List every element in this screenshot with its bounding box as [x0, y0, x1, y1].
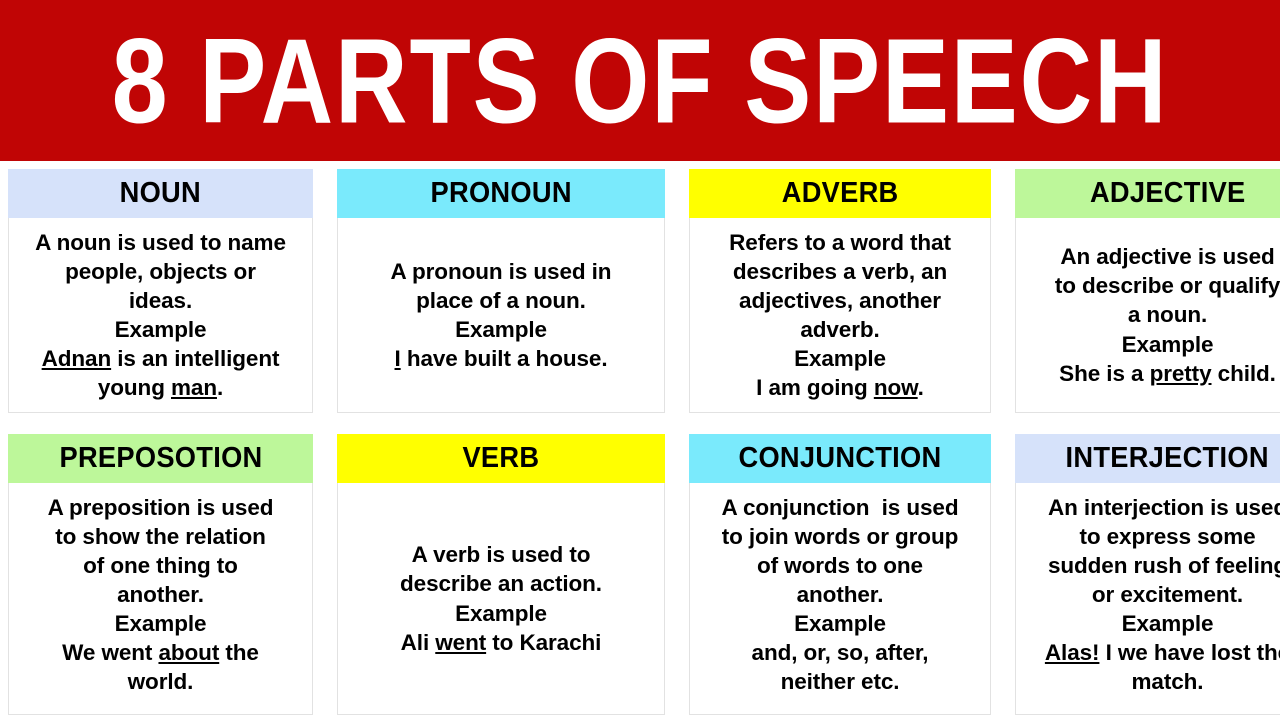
card-text-line: A preposition is used	[48, 493, 274, 522]
card-title: PRONOUN	[430, 177, 571, 210]
card-text-line: We went about the	[48, 638, 274, 667]
text-fragment: another.	[797, 582, 884, 607]
text-fragment: match.	[1132, 669, 1204, 694]
card-definition-text: Refers to a word thatdescribes a verb, a…	[729, 228, 951, 402]
card-text-line: Alas! I we have lost the	[1045, 638, 1280, 667]
card-text-line: adverb.	[729, 315, 951, 344]
card-text-line: another.	[722, 580, 959, 609]
text-fragment: is an intelligent	[111, 346, 279, 371]
card-header: PRONOUN	[337, 169, 665, 218]
underlined-example-word: Adnan	[42, 346, 112, 371]
page-banner: 8 PARTS OF SPEECH	[0, 0, 1280, 161]
page-title: 8 PARTS OF SPEECH	[112, 20, 1169, 141]
card-body: Refers to a word thatdescribes a verb, a…	[689, 218, 991, 413]
card-definition-text: A noun is used to namepeople, objects or…	[35, 228, 286, 402]
card-body: A conjunction is usedto join words or gr…	[689, 483, 991, 715]
text-fragment: sudden rush of feeling	[1048, 553, 1280, 578]
text-fragment: Example	[115, 317, 207, 342]
text-fragment: neither etc.	[781, 669, 900, 694]
text-fragment: of one thing to	[83, 553, 238, 578]
card-text-line: A verb is used to	[400, 540, 602, 569]
part-of-speech-card: ADVERBRefers to a word thatdescribes a v…	[689, 169, 991, 413]
text-fragment: child.	[1212, 361, 1276, 386]
card-text-line: Example	[35, 315, 286, 344]
card-header: CONJUNCTION	[689, 434, 991, 483]
text-fragment: An interjection is used	[1048, 495, 1280, 520]
text-fragment: .	[918, 375, 924, 400]
card-body: A verb is used todescribe an action.Exam…	[337, 483, 665, 715]
card-body: A pronoun is used inplace of a noun.Exam…	[337, 218, 665, 413]
card-text-line: and, or, so, after,	[722, 638, 959, 667]
card-body: A preposition is usedto show the relatio…	[8, 483, 313, 715]
text-fragment: adjectives, another	[739, 288, 941, 313]
text-fragment: to express some	[1079, 524, 1255, 549]
card-text-line: match.	[1045, 667, 1280, 696]
text-fragment: Example	[455, 317, 547, 342]
card-definition-text: A conjunction is usedto join words or gr…	[722, 493, 959, 696]
card-text-line: Example	[1055, 330, 1280, 359]
text-fragment: and, or, so, after,	[752, 640, 929, 665]
card-text-line: I am going now.	[729, 373, 951, 402]
text-fragment: She is a	[1059, 361, 1149, 386]
card-header: ADVERB	[689, 169, 991, 218]
card-text-line: Example	[400, 599, 602, 628]
card-definition-text: An adjective is usedto describe or quali…	[1055, 242, 1280, 387]
card-text-line: describes a verb, an	[729, 257, 951, 286]
text-fragment: A conjunction is used	[722, 495, 959, 520]
card-text-line: She is a pretty child.	[1055, 359, 1280, 388]
card-text-line: of words to one	[722, 551, 959, 580]
card-text-line: Example	[391, 315, 612, 344]
text-fragment: to join words or group	[722, 524, 959, 549]
card-text-line: I have built a house.	[391, 344, 612, 373]
underlined-example-word: pretty	[1150, 361, 1212, 386]
card-title: INTERJECTION	[1066, 442, 1269, 475]
card-text-line: people, objects or	[35, 257, 286, 286]
text-fragment: or excitement.	[1092, 582, 1243, 607]
text-fragment: adverb.	[800, 317, 879, 342]
underlined-example-word: now	[874, 375, 918, 400]
card-text-line: neither etc.	[722, 667, 959, 696]
text-fragment: Example	[1122, 611, 1214, 636]
card-text-line: Example	[48, 609, 274, 638]
card-definition-text: A verb is used todescribe an action.Exam…	[400, 540, 602, 656]
part-of-speech-card: INTERJECTIONAn interjection is usedto ex…	[1015, 434, 1280, 715]
text-fragment: ideas.	[129, 288, 192, 313]
card-text-line: An adjective is used	[1055, 242, 1280, 271]
card-text-line: a noun.	[1055, 300, 1280, 329]
text-fragment: the	[219, 640, 259, 665]
text-fragment: Example	[115, 611, 207, 636]
part-of-speech-card: CONJUNCTIONA conjunction is usedto join …	[689, 434, 991, 715]
card-header: ADJECTIVE	[1015, 169, 1280, 218]
text-fragment: to Karachi	[486, 630, 601, 655]
card-text-line: An interjection is used	[1045, 493, 1280, 522]
card-text-line: or excitement.	[1045, 580, 1280, 609]
card-text-line: Example	[722, 609, 959, 638]
parts-of-speech-grid: NOUNA noun is used to namepeople, object…	[8, 161, 1280, 715]
text-fragment: place of a noun.	[416, 288, 586, 313]
card-definition-text: An interjection is usedto express somesu…	[1045, 493, 1280, 696]
card-text-line: Ali went to Karachi	[400, 628, 602, 657]
text-fragment: An adjective is used	[1060, 244, 1274, 269]
card-title: ADVERB	[782, 177, 899, 210]
card-header: VERB	[337, 434, 665, 483]
underlined-example-word: about	[158, 640, 219, 665]
text-fragment: describe an action.	[400, 571, 602, 596]
text-fragment: I am going	[756, 375, 874, 400]
underlined-example-word: man	[171, 375, 217, 400]
text-fragment: A preposition is used	[48, 495, 274, 520]
text-fragment: We went	[62, 640, 158, 665]
card-text-line: to join words or group	[722, 522, 959, 551]
part-of-speech-card: ADJECTIVEAn adjective is usedto describe…	[1015, 169, 1280, 413]
part-of-speech-card: NOUNA noun is used to namepeople, object…	[8, 169, 313, 413]
card-body: A noun is used to namepeople, objects or…	[8, 218, 313, 413]
card-definition-text: A pronoun is used inplace of a noun.Exam…	[391, 257, 612, 373]
card-text-line: A noun is used to name	[35, 228, 286, 257]
card-text-line: describe an action.	[400, 569, 602, 598]
card-text-line: Adnan is an intelligent	[35, 344, 286, 373]
card-title: ADJECTIVE	[1090, 177, 1246, 210]
text-fragment: describes a verb, an	[733, 259, 947, 284]
underlined-example-word: Alas!	[1045, 640, 1100, 665]
card-text-line: A conjunction is used	[722, 493, 959, 522]
text-fragment: A verb is used to	[412, 542, 591, 567]
text-fragment: to show the relation	[55, 524, 266, 549]
card-text-line: place of a noun.	[391, 286, 612, 315]
card-text-line: Example	[1045, 609, 1280, 638]
text-fragment: people, objects or	[65, 259, 256, 284]
text-fragment: Example	[455, 601, 547, 626]
text-fragment: .	[217, 375, 223, 400]
text-fragment: Example	[794, 611, 886, 636]
card-header: INTERJECTION	[1015, 434, 1280, 483]
text-fragment: Refers to a word that	[729, 230, 951, 255]
card-text-line: young man.	[35, 373, 286, 402]
part-of-speech-card: PREPOSOTIONA preposition is usedto show …	[8, 434, 313, 715]
card-text-line: adjectives, another	[729, 286, 951, 315]
card-body: An interjection is usedto express somesu…	[1015, 483, 1280, 715]
card-text-line: another.	[48, 580, 274, 609]
card-text-line: to show the relation	[48, 522, 274, 551]
underlined-example-word: went	[435, 630, 486, 655]
text-fragment: Ali	[401, 630, 436, 655]
card-title: NOUN	[120, 177, 201, 210]
text-fragment: a noun.	[1128, 302, 1207, 327]
text-fragment: Example	[794, 346, 886, 371]
text-fragment: world.	[128, 669, 194, 694]
card-title: PREPOSOTION	[59, 442, 262, 475]
card-text-line: sudden rush of feeling	[1045, 551, 1280, 580]
text-fragment: I we have lost the	[1099, 640, 1280, 665]
card-title: CONJUNCTION	[738, 442, 941, 475]
text-fragment: to describe or qualify	[1055, 273, 1280, 298]
card-text-line: A pronoun is used in	[391, 257, 612, 286]
part-of-speech-card: VERBA verb is used todescribe an action.…	[337, 434, 665, 715]
text-fragment: Example	[1122, 332, 1214, 357]
card-text-line: to describe or qualify	[1055, 271, 1280, 300]
card-header: NOUN	[8, 169, 313, 218]
card-header: PREPOSOTION	[8, 434, 313, 483]
text-fragment: of words to one	[757, 553, 923, 578]
card-text-line: Example	[729, 344, 951, 373]
card-title: VERB	[463, 442, 540, 475]
card-body: An adjective is usedto describe or quali…	[1015, 218, 1280, 413]
text-fragment: A pronoun is used in	[391, 259, 612, 284]
card-definition-text: A preposition is usedto show the relatio…	[48, 493, 274, 696]
card-text-line: world.	[48, 667, 274, 696]
card-text-line: of one thing to	[48, 551, 274, 580]
text-fragment: A noun is used to name	[35, 230, 286, 255]
card-text-line: to express some	[1045, 522, 1280, 551]
text-fragment: young	[98, 375, 171, 400]
text-fragment: have built a house.	[401, 346, 608, 371]
text-fragment: another.	[117, 582, 204, 607]
card-text-line: Refers to a word that	[729, 228, 951, 257]
part-of-speech-card: PRONOUNA pronoun is used inplace of a no…	[337, 169, 665, 413]
card-text-line: ideas.	[35, 286, 286, 315]
